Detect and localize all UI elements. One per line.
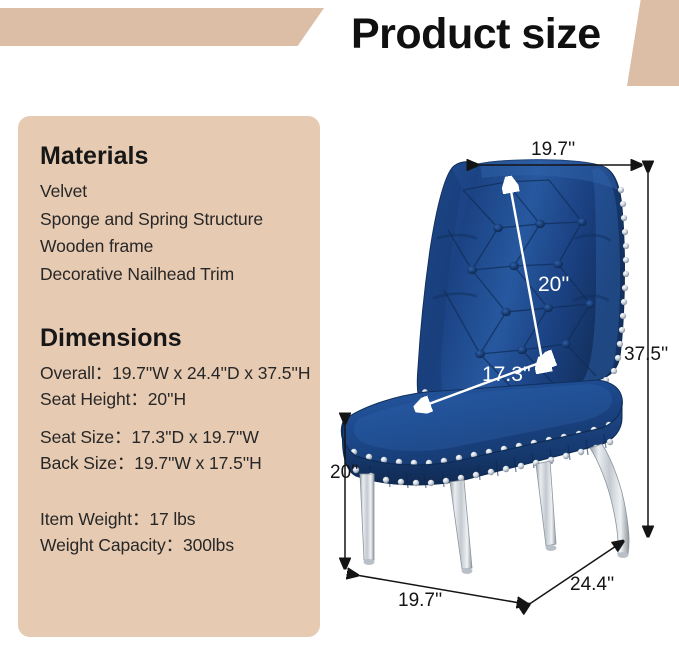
info-panel: Materials Velvet Sponge and Spring Struc… [18,116,320,637]
materials-heading: Materials [40,140,320,172]
spacer [40,476,320,506]
page-title: Product size [351,8,601,60]
dimensions-item-back-size: Back Size：19.7''W x 17.5''H [40,450,320,476]
materials-item: Velvet [40,178,320,206]
header-banner-left [0,8,324,46]
dimensions-item-overall: Overall：19.7''W x 24.4''D x 37.5''H [40,360,320,386]
product-size-infographic: Product size Materials Velvet Sponge and… [0,0,679,645]
dimensions-heading: Dimensions [40,322,320,354]
callout-back-width: 19.7'' [531,140,575,159]
callout-total-height: 37.5'' [624,345,668,364]
callout-base-width: 19.7'' [398,591,442,610]
materials-item: Sponge and Spring Structure [40,206,320,234]
header-banner-right [627,0,679,86]
materials-item: Wooden frame [40,233,320,261]
materials-item: Decorative Nailhead Trim [40,261,320,289]
product-image-stage: 19.7'' 20'' 17.3'' 37.5'' 20'' 19.7'' 24… [330,130,679,630]
callout-seat-height: 20'' [330,463,358,482]
dimensions-item-seat-size: Seat Size：17.3''D x 19.7''W [40,424,320,450]
callout-base-depth: 24.4'' [570,575,614,594]
callout-back-height: 20'' [538,275,569,294]
dimensions-item-weight-capacity: Weight Capacity：300lbs [40,532,320,558]
callout-seat-depth: 17.3'' [482,365,531,384]
spacer [40,412,320,424]
dimensions-item-seat-height: Seat Height：20''H [40,386,320,412]
dimensions-item-item-weight: Item Weight：17 lbs [40,506,320,532]
